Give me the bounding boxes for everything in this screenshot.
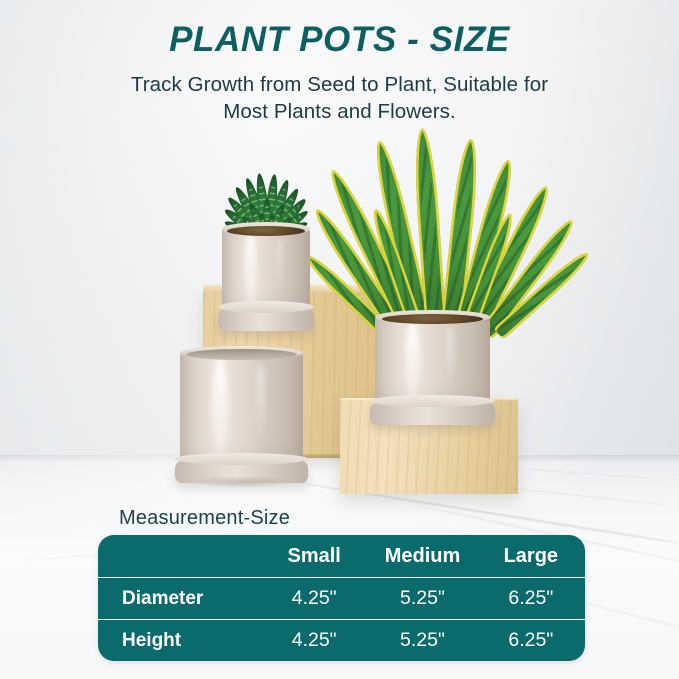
table-cell: 4.25" [260,629,368,652]
pot-saucer-top [370,395,494,407]
pot-highlight [405,322,420,397]
measurement-table-label: Measurement-Size [119,507,290,530]
pot-ground-shadow [173,474,311,490]
snake-plant-foliage [336,124,552,334]
measurement-table: Small Medium Large Diameter 4.25" 5.25" … [98,535,585,661]
table-header-small: Small [260,545,368,568]
table-header-row: Small Medium Large [98,535,585,577]
table-header-medium: Medium [368,545,476,568]
pot-soil [382,314,483,324]
pot-body [180,352,303,468]
table-header-large: Large [477,545,585,568]
large-plant-pot [375,316,490,410]
pot-highlight [212,359,228,452]
pot-saucer-top [218,301,313,313]
small-plant-pot [222,228,310,316]
pot-saucer-top [175,453,308,465]
table-cell: 5.25" [368,629,476,652]
table-cell: 4.25" [260,587,368,610]
pot-highlight [446,325,454,391]
page-title: PLANT POTS - SIZE [0,22,679,57]
table-row: Height 4.25" 5.25" 6.25" [98,619,585,661]
table-row-label: Diameter [98,588,260,610]
product-infographic: PLANT POTS - SIZE Track Growth from Seed… [0,0,679,679]
pot-highlight [245,233,256,303]
table-cell: 6.25" [477,629,585,652]
pot-highlight [277,237,283,299]
pot-highlight [256,364,265,445]
header-block: PLANT POTS - SIZE Track Growth from Seed… [0,0,679,125]
table-row-label: Height [98,630,260,652]
page-subtitle-line-1: Track Growth from Seed to Plant, Suitabl… [0,71,679,98]
pot-interior [186,349,297,360]
medium-plant-pot [180,352,303,468]
page-subtitle: Track Growth from Seed to Plant, Suitabl… [0,71,679,125]
table-cell: 5.25" [368,587,476,610]
table-row: Diameter 4.25" 5.25" 6.25" [98,577,585,619]
page-subtitle-line-2: Most Plants and Flowers. [0,98,679,125]
pot-soil [227,226,304,236]
table-cell: 6.25" [477,587,585,610]
